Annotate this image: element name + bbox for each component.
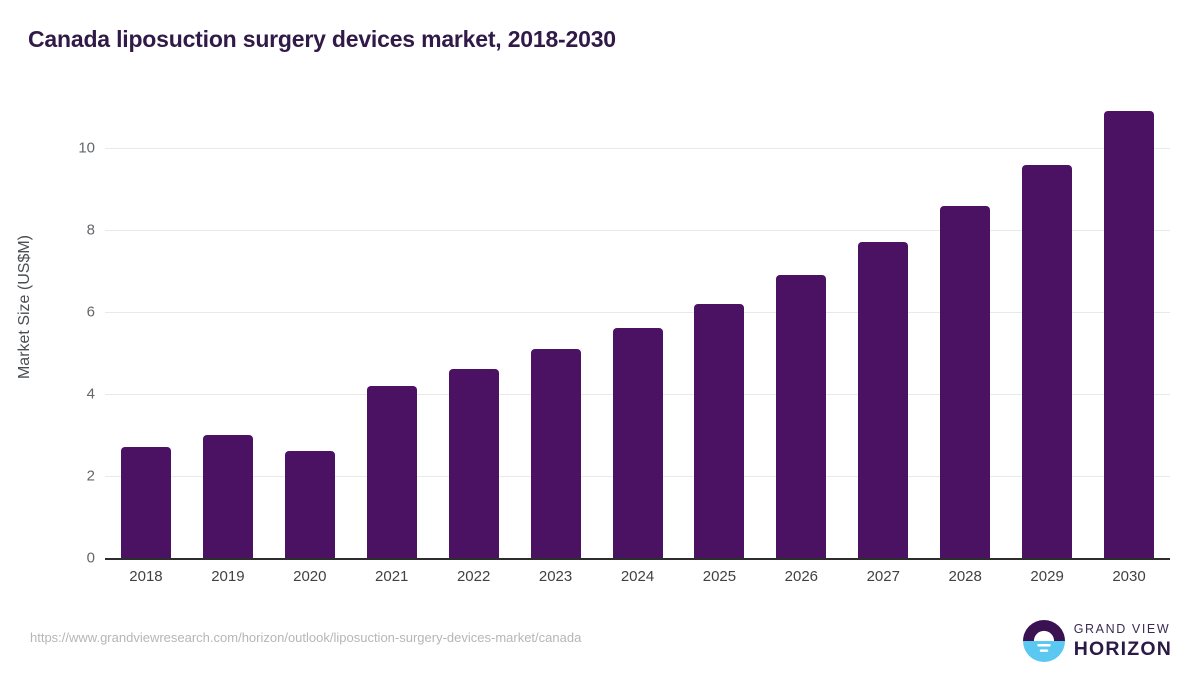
bar[interactable] (449, 369, 499, 558)
y-axis-tick-label: 10 (55, 140, 95, 157)
x-axis-tick-label: 2025 (676, 568, 762, 585)
x-axis-tick-label: 2028 (922, 568, 1008, 585)
horizon-logo-icon (1023, 620, 1065, 662)
y-axis-tick-label: 2 (55, 468, 95, 485)
y-axis-tick-label: 6 (55, 304, 95, 321)
y-axis-tick-label: 8 (55, 222, 95, 239)
x-axis-tick-label: 2024 (595, 568, 681, 585)
y-axis-tick-label: 0 (55, 550, 95, 567)
y-axis-label: Market Size (US$M) (16, 127, 34, 487)
bar[interactable] (1022, 165, 1072, 558)
x-axis-tick-label: 2026 (758, 568, 844, 585)
grand-view-horizon-logo[interactable]: GRAND VIEW HORIZON (1023, 618, 1172, 664)
x-axis-tick-label: 2023 (513, 568, 599, 585)
logo-line-horizon: HORIZON (1074, 640, 1172, 660)
x-axis-tick-label: 2018 (103, 568, 189, 585)
x-axis-tick-label: 2030 (1086, 568, 1172, 585)
bar[interactable] (367, 386, 417, 558)
x-axis-tick-label: 2021 (349, 568, 435, 585)
bar[interactable] (203, 435, 253, 558)
x-axis-tick-label: 2019 (185, 568, 271, 585)
plot-area (105, 110, 1170, 558)
x-axis-tick-label: 2022 (431, 568, 517, 585)
bar[interactable] (694, 304, 744, 558)
x-axis-tick-label: 2027 (840, 568, 926, 585)
bar[interactable] (776, 275, 826, 558)
logo-wordmark: GRAND VIEW HORIZON (1074, 623, 1172, 659)
bar[interactable] (531, 349, 581, 558)
page-title: Canada liposuction surgery devices marke… (28, 26, 616, 53)
x-axis-line (105, 558, 1170, 560)
chart-page: Canada liposuction surgery devices marke… (0, 0, 1200, 675)
bar[interactable] (285, 451, 335, 558)
bar-series (105, 110, 1170, 558)
bar[interactable] (121, 447, 171, 558)
x-axis-tick-label: 2029 (1004, 568, 1090, 585)
bar[interactable] (940, 206, 990, 558)
bar[interactable] (613, 328, 663, 558)
source-url[interactable]: https://www.grandviewresearch.com/horizo… (30, 630, 581, 645)
y-axis-tick-label: 4 (55, 386, 95, 403)
bar[interactable] (858, 242, 908, 558)
x-axis-ticks: 2018201920202021202220232024202520262027… (105, 568, 1170, 594)
y-axis-ticks: 0246810 (45, 0, 95, 675)
logo-line-grand-view: GRAND VIEW (1074, 623, 1172, 636)
bar[interactable] (1104, 111, 1154, 558)
x-axis-tick-label: 2020 (267, 568, 353, 585)
